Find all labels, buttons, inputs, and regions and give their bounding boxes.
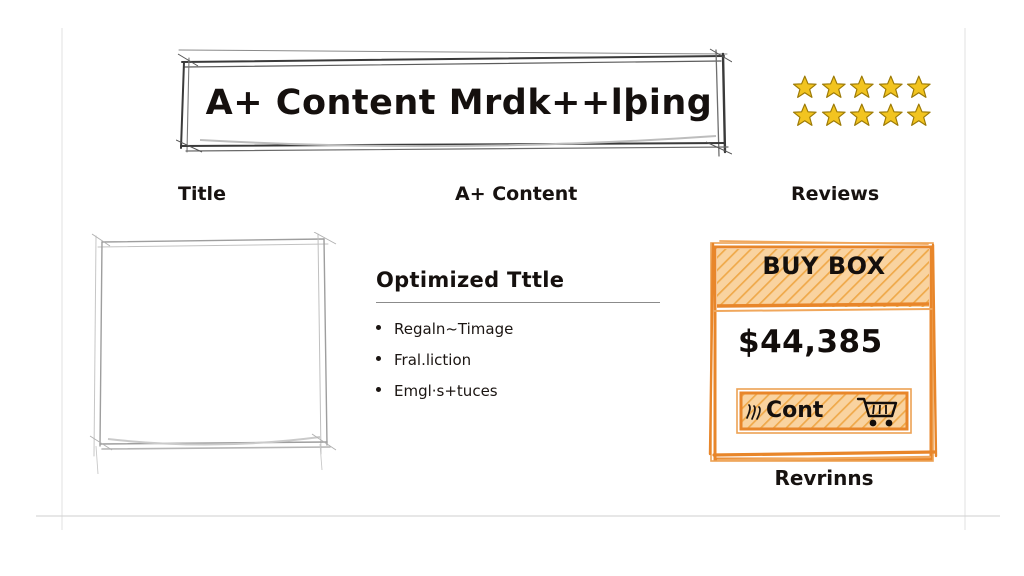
image-placeholder-sketch-border bbox=[88, 232, 338, 480]
product-image-placeholder[interactable] bbox=[88, 232, 338, 480]
heading-underline-rule bbox=[376, 302, 660, 303]
star-icon bbox=[878, 102, 904, 128]
add-to-cart-label: Cont bbox=[766, 398, 823, 423]
feature-bullet-list: Regaln~Timage Fral.liction Emgl·s+tuces bbox=[376, 320, 666, 413]
bullet-dot-icon bbox=[376, 356, 381, 361]
star-rating-row[interactable] bbox=[792, 102, 932, 128]
star-icon bbox=[906, 102, 932, 128]
star-icon bbox=[792, 102, 818, 128]
optimized-title-heading: Optimized Tttle bbox=[376, 268, 666, 292]
bullet-dot-icon bbox=[376, 325, 381, 330]
column-label-title: Title bbox=[178, 183, 226, 205]
a-plus-content-block: Optimized Tttle bbox=[376, 268, 666, 292]
star-icon bbox=[821, 74, 847, 100]
buy-box-price: $44,385 bbox=[738, 324, 883, 360]
page-title-banner[interactable]: A+ Content Mrdk++lþing bbox=[176, 48, 732, 158]
shopping-cart-icon bbox=[856, 396, 900, 428]
star-rating-row[interactable] bbox=[792, 74, 932, 100]
star-icon bbox=[792, 74, 818, 100]
buy-box-panel[interactable]: BUY BOX $44,385 Cont bbox=[708, 240, 940, 468]
column-label-a-plus-content: A+ Content bbox=[455, 183, 577, 205]
star-icon bbox=[878, 74, 904, 100]
page-title-text: A+ Content Mrdk++lþing bbox=[176, 48, 732, 158]
star-icon bbox=[906, 74, 932, 100]
star-icon bbox=[849, 102, 875, 128]
star-rating-group[interactable] bbox=[792, 74, 932, 128]
scribble-icon bbox=[744, 402, 768, 422]
column-label-reviews: Reviews bbox=[791, 183, 879, 205]
buy-box-caption: Revrinns bbox=[708, 466, 940, 490]
list-item[interactable]: Regaln~Timage bbox=[376, 320, 666, 351]
list-item-label: Regaln~Timage bbox=[394, 320, 513, 338]
bullet-dot-icon bbox=[376, 387, 381, 392]
buy-box-header-label: BUY BOX bbox=[708, 252, 940, 280]
list-item-label: Emgl·s+tuces bbox=[394, 382, 498, 400]
list-item[interactable]: Fral.liction bbox=[376, 351, 666, 382]
list-item[interactable]: Emgl·s+tuces bbox=[376, 382, 666, 413]
wireframe-canvas: A+ Content Mrdk++lþing Title A+ Content … bbox=[0, 0, 1024, 576]
star-icon bbox=[849, 74, 875, 100]
add-to-cart-button[interactable]: Cont bbox=[736, 388, 912, 434]
star-icon bbox=[821, 102, 847, 128]
list-item-label: Fral.liction bbox=[394, 351, 471, 369]
